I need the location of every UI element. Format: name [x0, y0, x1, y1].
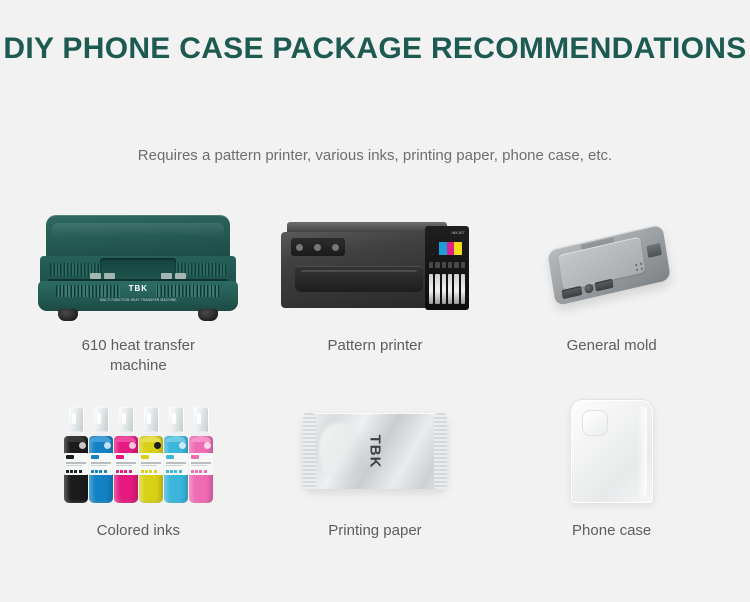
bottle-cap — [68, 407, 84, 433]
mold-side-vent — [646, 243, 662, 258]
mold-body — [547, 224, 671, 306]
case-body — [570, 399, 654, 503]
product-caption: Pattern printer — [327, 336, 422, 356]
press-lid — [46, 215, 230, 261]
product-image-heat-transfer-machine: TBK MULTI FUNCTION HEAT TRANSFER MACHINE — [20, 196, 257, 336]
phone-case-icon — [570, 399, 654, 503]
product-card-pattern-printer[interactable]: INKJET Pattern printer — [257, 196, 494, 381]
product-caption: Colored inks — [97, 521, 180, 541]
page-title: DIY PHONE CASE PACKAGE RECOMMENDATIONS — [0, 30, 750, 68]
bottle-cap — [168, 407, 184, 433]
bottle-label — [64, 453, 88, 475]
promo-banner: DIY PHONE CASE PACKAGE RECOMMENDATIONS R… — [0, 0, 750, 602]
product-image-pattern-printer: INKJET — [257, 196, 494, 336]
product-grid: TBK MULTI FUNCTION HEAT TRANSFER MACHINE… — [20, 196, 730, 566]
control-group-right — [161, 273, 186, 279]
product-caption: Printing paper — [328, 521, 421, 541]
product-caption: Phone case — [572, 521, 651, 541]
product-image-colored-inks — [20, 381, 257, 521]
heat-transfer-machine-icon: TBK MULTI FUNCTION HEAT TRANSFER MACHINE — [38, 215, 238, 317]
product-image-phone-case — [493, 381, 730, 521]
bottle-label — [164, 453, 188, 475]
tank-level-windows — [429, 270, 465, 304]
bottle-mark — [104, 442, 111, 449]
bottle-label — [89, 453, 113, 475]
ink-color-label — [432, 242, 462, 255]
ink-bottle-yellow — [139, 407, 163, 503]
bottle-mark — [79, 442, 86, 449]
product-card-heat-transfer-machine[interactable]: TBK MULTI FUNCTION HEAT TRANSFER MACHINE… — [20, 196, 257, 381]
printer-output-tray — [295, 266, 423, 292]
inkjet-printer-icon: INKJET — [281, 216, 469, 316]
camera-cutout — [582, 410, 608, 436]
bottle-mark — [154, 442, 161, 449]
mold-screw-dots — [634, 261, 645, 273]
product-caption: General mold — [567, 336, 657, 356]
product-card-general-mold[interactable]: General mold — [493, 196, 730, 381]
bottle-label — [114, 453, 138, 475]
control-group-left — [90, 273, 115, 279]
product-image-printing-paper: TBK — [257, 381, 494, 521]
ink-bottle-black — [64, 407, 88, 503]
foot-right — [198, 309, 218, 321]
mold-round-hole — [584, 283, 594, 294]
ink-bottle-light-cyan — [164, 407, 188, 503]
brand-logo-tbk: TBK — [38, 284, 238, 293]
printer-brand-subtext: INKJET — [452, 231, 465, 235]
foot-left — [58, 309, 78, 321]
product-card-phone-case[interactable]: Phone case — [493, 381, 730, 566]
bottle-cap — [193, 407, 209, 433]
product-image-general-mold — [493, 196, 730, 336]
bottle-cap — [143, 407, 159, 433]
printer-ink-tank-unit: INKJET — [425, 226, 469, 310]
printer-control-panel — [291, 238, 345, 256]
bottle-mark — [204, 442, 211, 449]
general-mold-icon — [542, 221, 682, 311]
bottle-cap — [118, 407, 134, 433]
bottle-label — [189, 453, 213, 475]
product-card-colored-inks[interactable]: Colored inks — [20, 381, 257, 566]
bottle-mark — [129, 442, 136, 449]
ink-bottle-light-magenta — [189, 407, 213, 503]
page-subtitle: Requires a pattern printer, various inks… — [0, 147, 750, 164]
bottle-label — [139, 453, 163, 475]
product-card-printing-paper[interactable]: TBK Printing paper — [257, 381, 494, 566]
foil-pouch-icon: TBK — [299, 403, 451, 499]
ink-bottle-magenta — [114, 407, 138, 503]
ink-bottle-cyan — [89, 407, 113, 503]
bottle-cap — [93, 407, 109, 433]
tank-buttons — [429, 262, 465, 268]
bottle-mark — [179, 442, 186, 449]
case-highlight — [637, 406, 647, 497]
product-caption: 610 heat transfer machine — [53, 336, 223, 377]
pouch-brand-logo: TBK — [299, 403, 451, 499]
ink-bottles-icon — [62, 399, 214, 503]
brand-subtext: MULTI FUNCTION HEAT TRANSFER MACHINE — [38, 298, 238, 302]
